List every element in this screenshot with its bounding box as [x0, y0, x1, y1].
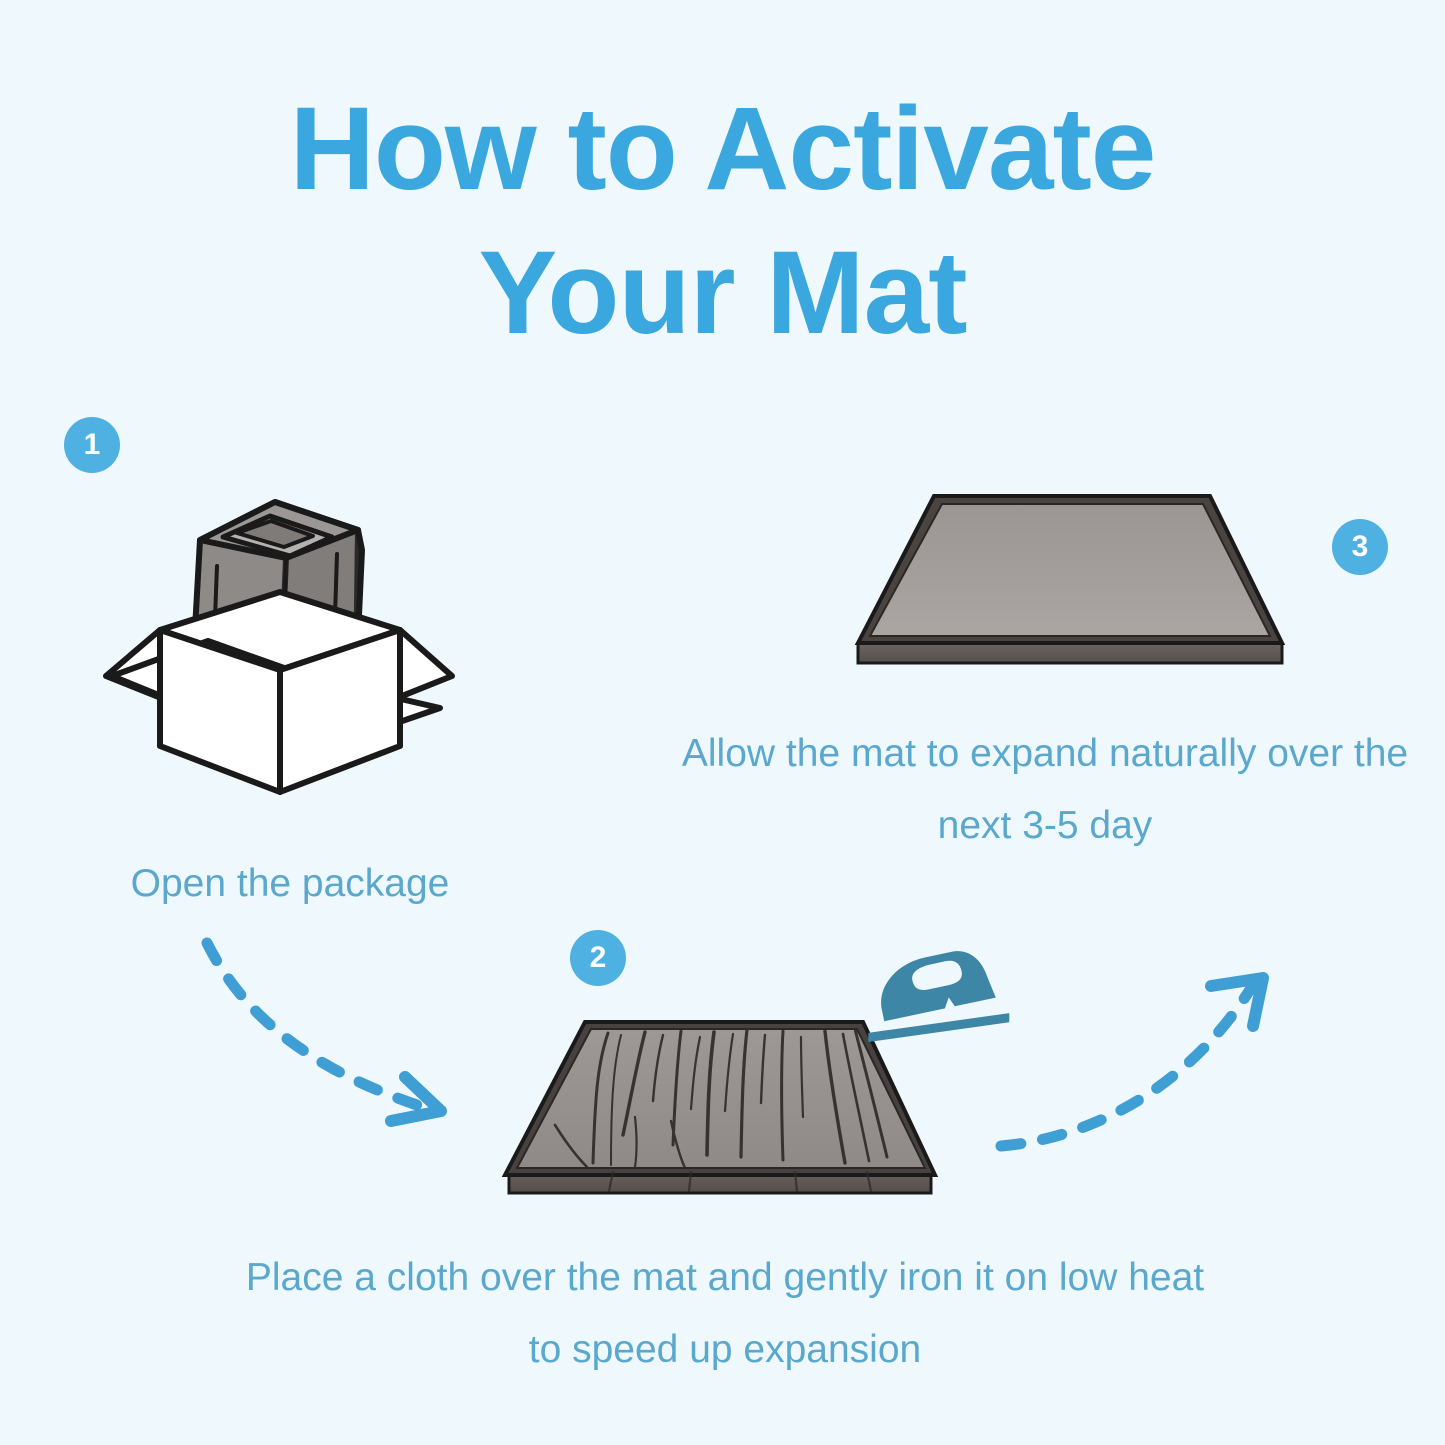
open-box-icon	[100, 480, 460, 830]
step-badge-2: 2	[570, 930, 626, 986]
arrow-step1-to-step2-icon	[175, 925, 475, 1140]
page-title: How to Activate Your Mat	[0, 78, 1445, 366]
step-3-caption: Allow the mat to expand naturally over t…	[660, 718, 1430, 862]
title-line-1: How to Activate	[0, 78, 1445, 222]
step-2-caption: Place a cloth over the mat and gently ir…	[230, 1242, 1220, 1386]
arrow-step2-to-step3-icon	[985, 960, 1285, 1165]
expanded-mat-icon	[830, 465, 1310, 680]
step-badge-3: 3	[1332, 519, 1388, 575]
step-badge-1: 1	[64, 417, 120, 473]
title-line-2: Your Mat	[0, 222, 1445, 366]
infographic-canvas: How to Activate Your Mat 1	[0, 0, 1445, 1445]
step-1-caption: Open the package	[40, 848, 540, 920]
